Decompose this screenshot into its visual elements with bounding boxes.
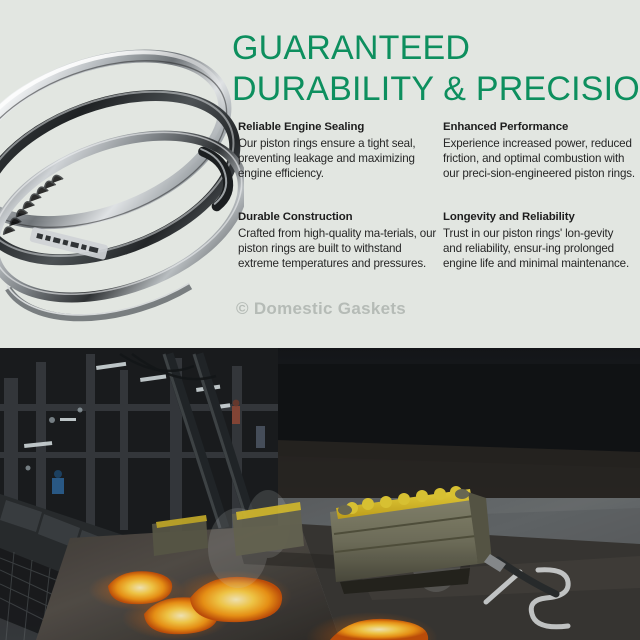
feature-body: Crafted from high-quality ma-terials, ou… — [238, 226, 438, 272]
piston-rings-photo — [0, 10, 244, 340]
feature-item-enhanced-performance: Enhanced Performance Experience increase… — [443, 120, 635, 182]
feature-title: Durable Construction — [238, 210, 438, 225]
headline-line-2: DURABILITY & PRECISION — [232, 69, 632, 110]
feature-item-reliable-engine-sealing: Reliable Engine Sealing Our piston rings… — [238, 120, 438, 182]
feature-body: Experience increased power, reduced fric… — [443, 136, 635, 182]
feature-item-durable-construction: Durable Construction Crafted from high-q… — [238, 210, 438, 272]
feature-grid: Reliable Engine Sealing Our piston rings… — [238, 120, 630, 271]
feature-title: Longevity and Reliability — [443, 210, 635, 225]
page-title: GUARANTEED DURABILITY & PRECISION — [232, 28, 632, 110]
product-feature-poster: GUARANTEED DURABILITY & PRECISION Reliab… — [0, 0, 640, 640]
headline-line-1: GUARANTEED — [232, 28, 632, 69]
foundry-photo — [0, 348, 640, 640]
watermark: © Domestic Gaskets — [236, 299, 406, 319]
feature-title: Enhanced Performance — [443, 120, 635, 135]
top-section: GUARANTEED DURABILITY & PRECISION Reliab… — [0, 0, 640, 348]
feature-body: Our piston rings ensure a tight seal, pr… — [238, 136, 438, 182]
feature-body: Trust in our piston rings' lon-gevity an… — [443, 226, 635, 272]
feature-item-longevity-and-reliability: Longevity and Reliability Trust in our p… — [443, 210, 635, 272]
feature-title: Reliable Engine Sealing — [238, 120, 438, 135]
